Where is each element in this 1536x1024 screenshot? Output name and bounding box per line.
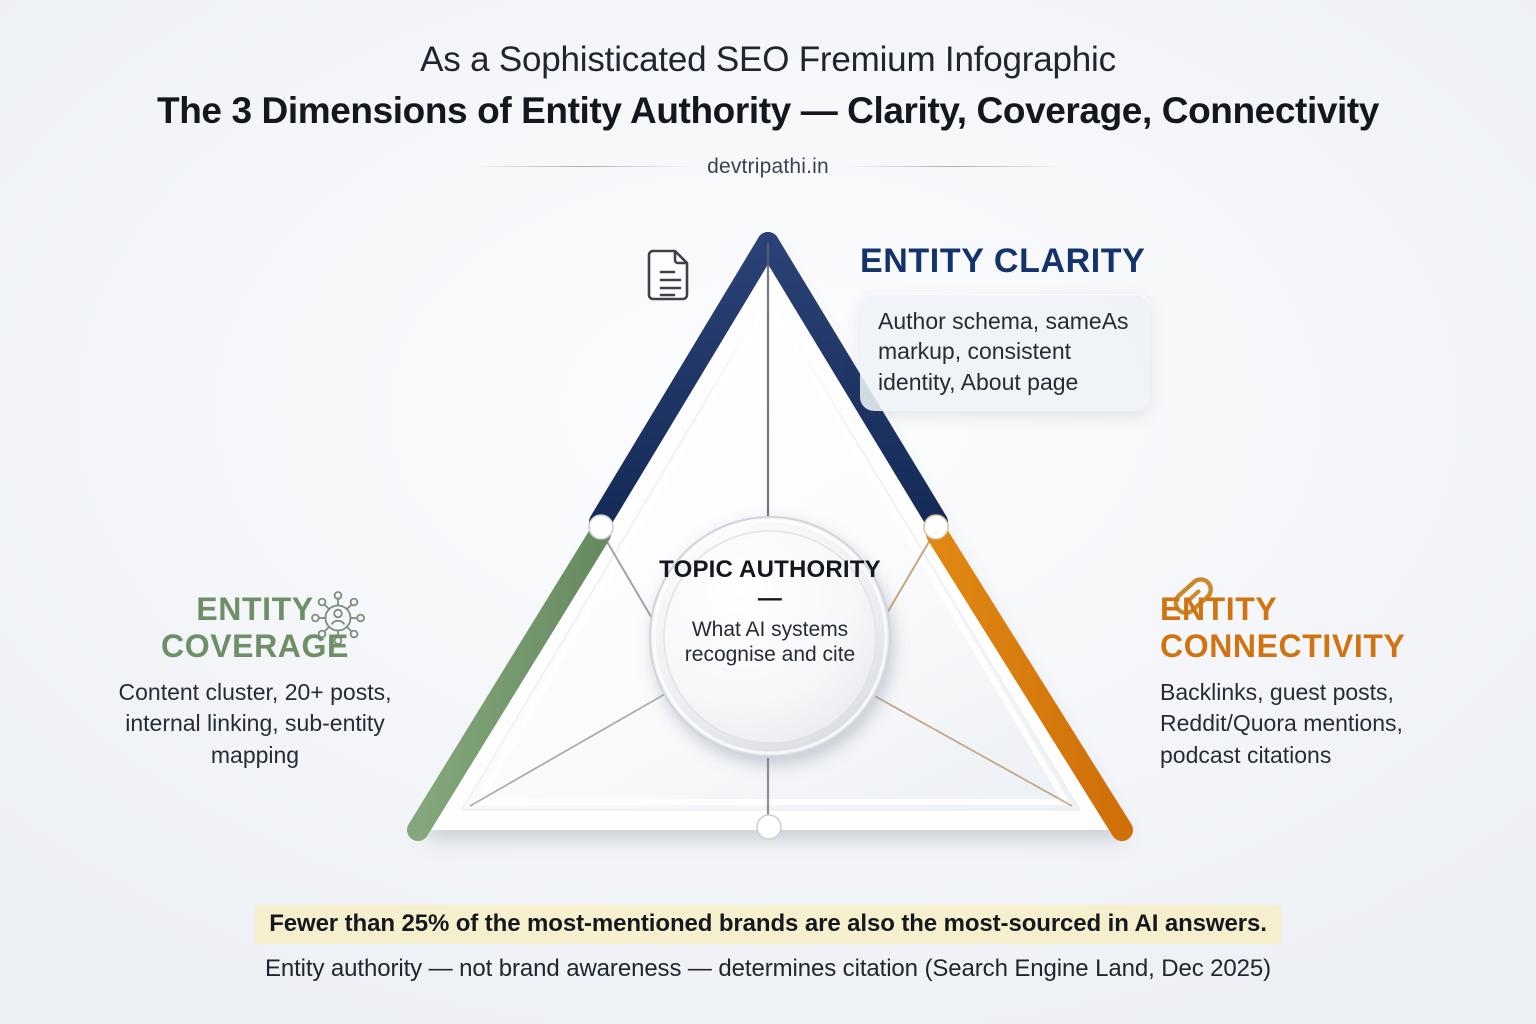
infographic-footer: Fewer than 25% of the most-mentioned bra…	[0, 905, 1536, 983]
dimension-connectivity: ENTITY CONNECTIVITY Backlinks, guest pos…	[1160, 578, 1460, 771]
connectivity-heading-line1: ENTITY	[1160, 592, 1460, 627]
node-clarity-coverage	[589, 515, 613, 539]
connectivity-description: Backlinks, guest posts, Reddit/Quora men…	[1160, 677, 1460, 771]
coverage-heading-line1: ENTITY	[110, 592, 400, 627]
coverage-description: Content cluster, 20+ posts, internal lin…	[110, 677, 400, 771]
dimension-coverage: ENTITY COVERAGE Content cluster, 20+ pos…	[110, 578, 400, 771]
document-icon	[649, 251, 687, 299]
connectivity-heading-line2: CONNECTIVITY	[1160, 629, 1460, 664]
center-circle	[650, 517, 890, 757]
dimension-clarity: ENTITY CLARITY Author schema, sameAs mar…	[860, 243, 1210, 411]
clarity-description: Author schema, sameAs markup, consistent…	[878, 306, 1132, 398]
node-clarity-connectivity	[924, 515, 948, 539]
triangle-diagram	[0, 0, 1536, 1024]
clarity-callout-card: Author schema, sameAs markup, consistent…	[860, 294, 1150, 412]
node-coverage-connectivity	[757, 815, 781, 839]
footer-subline: Entity authority — not brand awareness —…	[0, 955, 1536, 983]
coverage-heading-line2: COVERAGE	[110, 629, 400, 664]
footer-highlight: Fewer than 25% of the most-mentioned bra…	[255, 905, 1281, 944]
clarity-heading: ENTITY CLARITY	[860, 243, 1210, 280]
